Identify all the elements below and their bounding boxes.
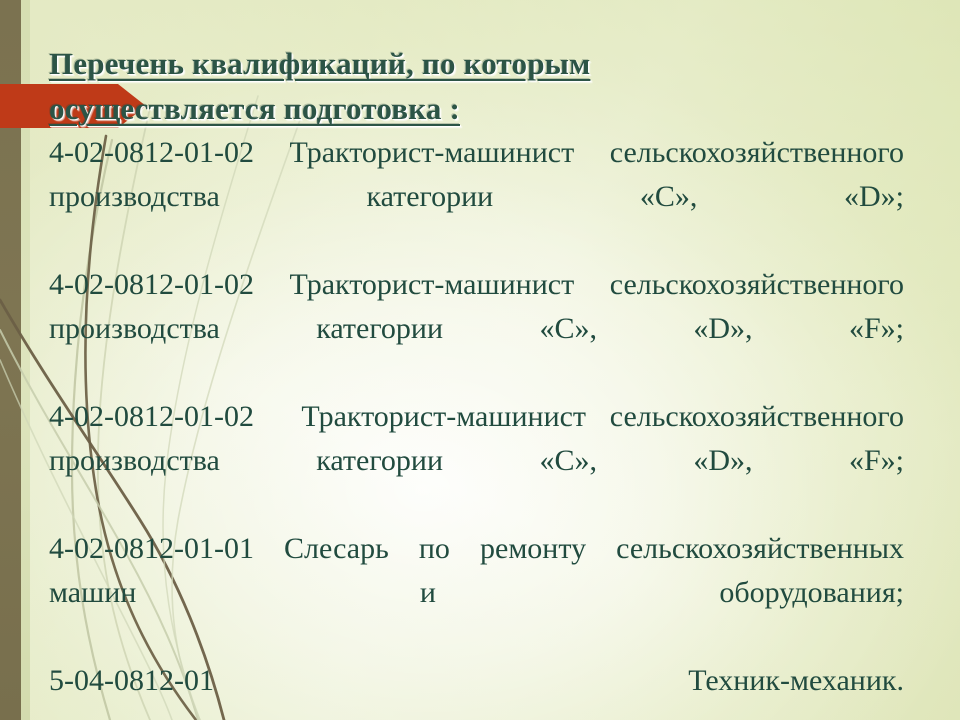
page-title-line-1: Перечень квалификаций, по которым — [49, 41, 749, 86]
list-item: 4-02-0812-01-02 Тракторист-машинист сель… — [49, 263, 904, 395]
page-title-line-2: осуществляется подготовка : — [49, 86, 749, 131]
page-title: Перечень квалификаций, по которым осущес… — [49, 41, 749, 131]
list-item: 4-02-0812-01-02 Тракторист-машинист сель… — [49, 131, 904, 263]
list-item: 4-02-0812-01-02 Тракторист-машинист сель… — [49, 395, 904, 527]
slide-canvas: Перечень квалификаций, по которым осущес… — [0, 0, 960, 720]
list-item: 5-04-0812-01 Техник-механик. — [49, 659, 904, 720]
qualification-list: 4-02-0812-01-02 Тракторист-машинист сель… — [49, 131, 909, 720]
list-item: 4-02-0812-01-01 Слесарь по ремонту сельс… — [49, 527, 904, 659]
slide-content: Перечень квалификаций, по которым осущес… — [49, 41, 909, 720]
